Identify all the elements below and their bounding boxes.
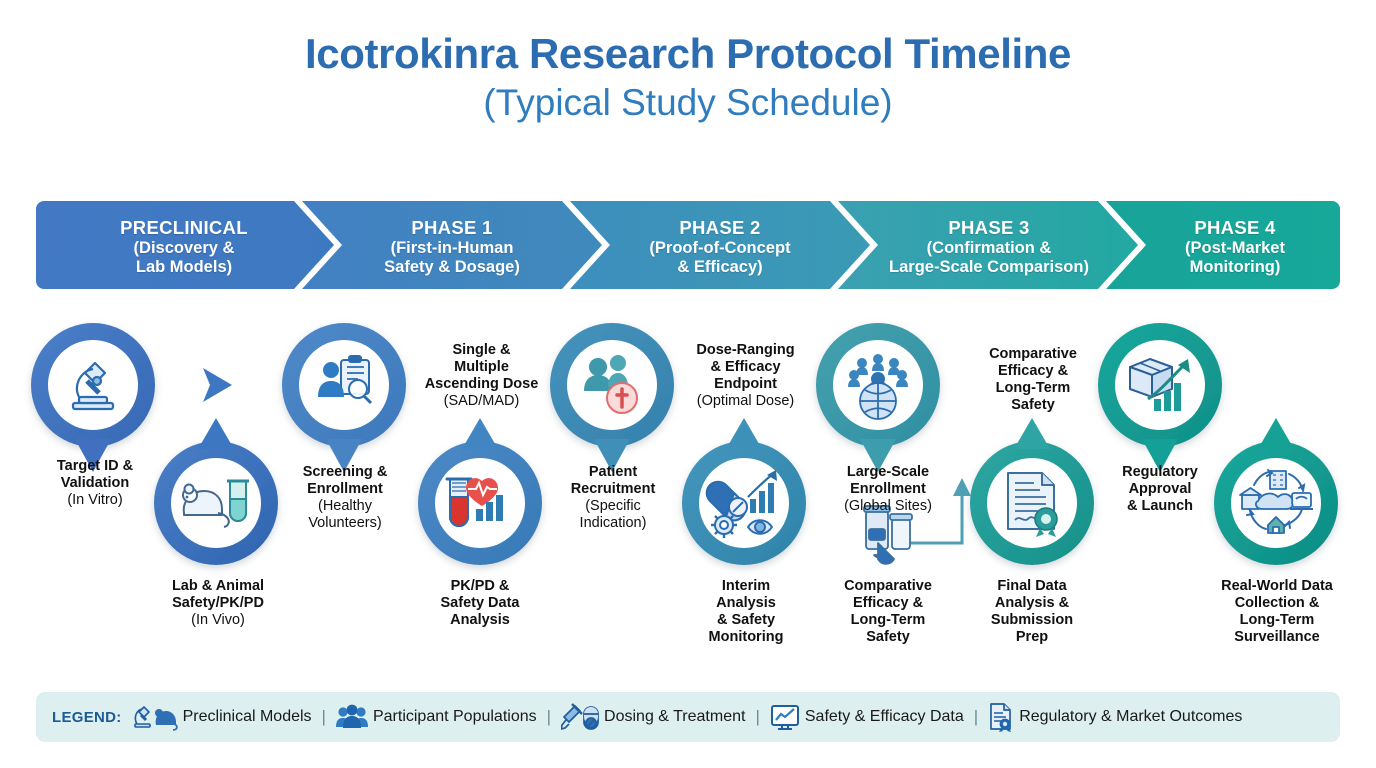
mid-node-label-largescale: Large-Scale Enrollment (Global Sites) <box>812 464 964 515</box>
legend-label: Preclinical Models <box>183 708 312 726</box>
legend-item-participant-populations: Participant Populations <box>336 704 537 730</box>
people-group-icon <box>336 704 368 730</box>
legend-label: Regulatory & Market Outcomes <box>1019 708 1242 726</box>
legend-separator: | <box>974 707 978 727</box>
bottom-node-label-1: PK/PD & Safety Data Analysis <box>410 578 550 629</box>
legend-item-preclinical-models: Preclinical Models <box>132 703 312 731</box>
legend-separator: | <box>755 707 759 727</box>
bottom-node-label-4: Final Data Analysis & Submission Prep <box>962 578 1102 646</box>
top-node-label-1: Single & Multiple Ascending Dose (SAD/MA… <box>404 342 559 410</box>
legend-separator: | <box>322 707 326 727</box>
legend-item-regulatory-market-outcomes: Regulatory & Market Outcomes <box>988 702 1242 732</box>
phase-label-1: PHASE 1 (First-in-Human Safety & Dosage) <box>318 217 586 277</box>
phase-banner: PRECLINICAL (Discovery & Lab Models) PHA… <box>36 201 1340 289</box>
microscope-mouse-icon <box>132 703 178 731</box>
legend-label: Safety & Efficacy Data <box>805 708 964 726</box>
flow-arrow-chevron <box>203 368 232 402</box>
certificate-document-icon <box>1008 473 1057 537</box>
timeline-diagram: Target ID & Validation (In Vitro) Single… <box>0 300 1376 680</box>
legend-label: Participant Populations <box>373 708 537 726</box>
legend-title: LEGEND: <box>52 709 122 726</box>
bottom-node-label-0: Lab & Animal Safety/PK/PD (In Vivo) <box>146 578 290 629</box>
legend-item-dosing-treatment: Dosing & Treatment <box>561 703 745 731</box>
phase-label-4: PHASE 4 (Post-Market Monitoring) <box>1132 217 1338 277</box>
phase-label-3: PHASE 3 (Confirmation & Large-Scale Comp… <box>848 217 1130 277</box>
legend-bar: LEGEND: Preclinical Models | <box>36 692 1340 742</box>
legend-separator: | <box>547 707 551 727</box>
syringe-capsule-icon <box>561 703 599 731</box>
mid-node-label-screening: Screening & Enrollment (Healthy Voluntee… <box>272 464 418 532</box>
mid-node-label-patient: Patient Recruitment (Specific Indication… <box>540 464 686 532</box>
legend-label: Dosing & Treatment <box>604 708 745 726</box>
bottom-node-label-3: Comparative Efficacy & Long-Term Safety <box>818 578 958 646</box>
title-main: Icotrokinra Research Protocol Timeline <box>0 32 1376 76</box>
bottom-node-label-2: Interim Analysis & Safety Monitoring <box>678 578 814 646</box>
bottom-node-label-5: Real-World Data Collection & Long-Term S… <box>1196 578 1358 646</box>
top-node-label-4: Regulatory Approval & Launch <box>1090 464 1230 515</box>
phase-label-2: PHASE 2 (Proof-of-Concept & Efficacy) <box>586 217 854 277</box>
top-node-label-0: Target ID & Validation (In Vitro) <box>20 458 170 509</box>
phase-label-0: PRECLINICAL (Discovery & Lab Models) <box>50 217 318 277</box>
top-node-label-3: Comparative Efficacy & Long-Term Safety <box>958 346 1108 414</box>
title-subtitle: (Typical Study Schedule) <box>0 80 1376 126</box>
top-node-label-2: Dose-Ranging & Efficacy Endpoint (Optima… <box>668 342 823 410</box>
legend-item-safety-efficacy-data: Safety & Efficacy Data <box>770 703 964 731</box>
monitor-chart-icon <box>770 703 800 731</box>
page-title: Icotrokinra Research Protocol Timeline (… <box>0 32 1376 126</box>
document-seal-icon <box>988 702 1014 732</box>
